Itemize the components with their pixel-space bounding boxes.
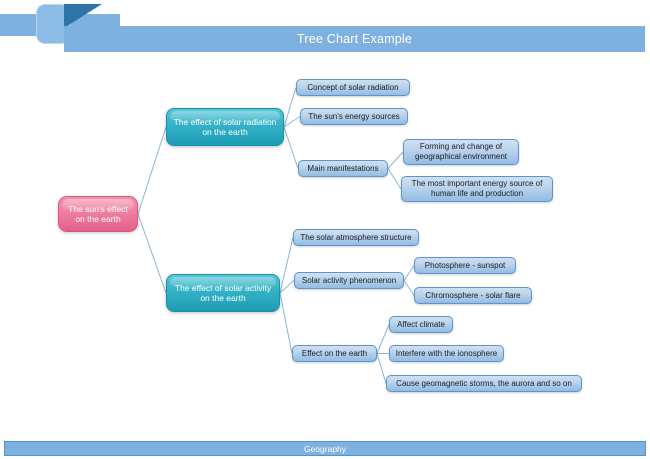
tree-node-label: The most important energy source of huma… bbox=[402, 179, 552, 199]
ribbon-fold-icon bbox=[64, 4, 102, 28]
tree-node-label: The solar atmosphere structure bbox=[296, 233, 415, 243]
connector-n-effect-on-earth-to-n-affect-climate bbox=[377, 325, 389, 354]
tree-node-label: Main manifestations bbox=[303, 164, 382, 174]
tree-node-n-interfere-ionosphere[interactable]: Interfere with the ionosphere bbox=[389, 345, 504, 362]
connector-n-main-manifestations-to-n-forming-change-geographical bbox=[388, 152, 403, 169]
tree-node-n-effect-on-earth[interactable]: Effect on the earth bbox=[292, 345, 377, 362]
connector-n-solar-activity-to-n-effect-on-earth bbox=[280, 293, 292, 354]
tree-node-label: Photosphere - sunspot bbox=[421, 261, 510, 271]
connector-n-solar-activity-phenomenon-to-n-chromosphere-solar-flare bbox=[404, 281, 414, 296]
tree-node-n-concept-solar-radiation[interactable]: Concept of solar radiation bbox=[296, 79, 410, 96]
tree-node-label: Forming and change of geographical envir… bbox=[404, 142, 518, 162]
tree-node-n-most-important-energy-source[interactable]: The most important energy source of huma… bbox=[401, 176, 553, 202]
tree-node-label: Interfere with the ionosphere bbox=[392, 349, 501, 359]
page-title-label: Tree Chart Example bbox=[297, 32, 412, 46]
tree-node-label: The sun's energy sources bbox=[304, 112, 403, 122]
connector-root-to-n-solar-activity bbox=[138, 214, 166, 293]
tree-node-n-solar-radiation[interactable]: The effect of solar radiation on the ear… bbox=[166, 108, 284, 146]
tree-node-n-chromosphere-solar-flare[interactable]: Chromosphere - solar flare bbox=[414, 287, 532, 304]
tree-node-label: Chromosphere - solar flare bbox=[421, 291, 524, 301]
connector-n-main-manifestations-to-n-most-important-energy-source bbox=[388, 169, 401, 190]
tree-node-n-cause-geomagnetic-storms[interactable]: Cause geomagnetic storms, the aurora and… bbox=[386, 375, 582, 392]
tree-node-label: The effect of solar radiation on the ear… bbox=[167, 117, 283, 138]
tree-node-n-affect-climate[interactable]: Affect climate bbox=[389, 316, 453, 333]
connector-n-solar-activity-to-n-solar-atmosphere-structure bbox=[280, 238, 293, 294]
connector-n-solar-activity-to-n-solar-activity-phenomenon bbox=[280, 281, 294, 294]
tree-chart-page: Tree Chart Example The sun's effect on t… bbox=[0, 0, 650, 459]
tree-node-n-forming-change-geographical[interactable]: Forming and change of geographical envir… bbox=[403, 139, 519, 165]
connector-n-solar-radiation-to-n-main-manifestations bbox=[284, 127, 298, 169]
tree-node-n-solar-atmosphere-structure[interactable]: The solar atmosphere structure bbox=[293, 229, 419, 246]
connector-n-effect-on-earth-to-n-cause-geomagnetic-storms bbox=[377, 354, 386, 384]
connector-n-solar-radiation-to-n-suns-energy-sources bbox=[284, 117, 300, 128]
footer-label: Geography bbox=[304, 444, 346, 454]
connector-n-solar-activity-phenomenon-to-n-photosphere-sunspot bbox=[404, 266, 414, 281]
footer-bar: Geography bbox=[4, 441, 646, 456]
tree-node-label: The effect of solar activity on the eart… bbox=[167, 283, 279, 304]
tree-node-label: Effect on the earth bbox=[298, 349, 371, 359]
tree-node-n-photosphere-sunspot[interactable]: Photosphere - sunspot bbox=[414, 257, 516, 274]
tree-node-label: Cause geomagnetic storms, the aurora and… bbox=[392, 379, 576, 389]
tree-node-n-solar-activity[interactable]: The effect of solar activity on the eart… bbox=[166, 274, 280, 312]
connector-root-to-n-solar-radiation bbox=[138, 127, 166, 214]
page-title: Tree Chart Example bbox=[64, 26, 645, 52]
tree-node-label: Concept of solar radiation bbox=[303, 83, 402, 93]
tree-node-n-suns-energy-sources[interactable]: The sun's energy sources bbox=[300, 108, 408, 125]
connector-n-solar-radiation-to-n-concept-solar-radiation bbox=[284, 88, 296, 128]
tree-node-label: The sun's effect on the earth bbox=[59, 204, 137, 225]
tree-node-n-main-manifestations[interactable]: Main manifestations bbox=[298, 160, 388, 177]
tree-node-n-solar-activity-phenomenon[interactable]: Solar activity phenomenon bbox=[294, 272, 404, 289]
tree-node-label: Solar activity phenomenon bbox=[298, 276, 400, 286]
tree-node-root[interactable]: The sun's effect on the earth bbox=[58, 196, 138, 232]
tree-node-label: Affect climate bbox=[393, 320, 449, 330]
